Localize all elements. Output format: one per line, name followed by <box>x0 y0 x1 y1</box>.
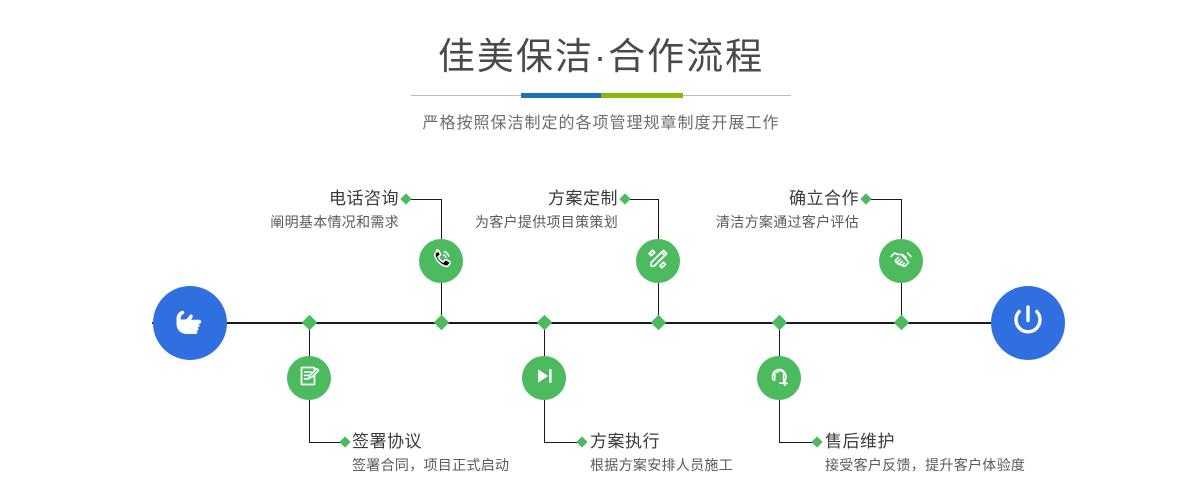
step-node-3[interactable] <box>636 239 680 283</box>
step-title-3: 方案定制 <box>370 187 618 211</box>
phone-call-icon <box>428 246 454 277</box>
step-label-6: 售后维护 接受客户反馈，提升客户体验度 <box>825 430 1025 476</box>
timeline-axis <box>152 322 1052 324</box>
handshake-icon <box>888 246 914 277</box>
step-label-4: 方案执行 根据方案安排人员施工 <box>590 430 733 476</box>
step-connector-4-stem <box>544 400 545 442</box>
axis-diamond-4 <box>537 315 553 331</box>
step-desc-2: 签署合同，项目正式启动 <box>352 454 509 476</box>
step-connector-5-stem <box>901 199 902 239</box>
axis-diamond-2 <box>302 315 318 331</box>
step-title-4: 方案执行 <box>590 430 733 454</box>
step-title-5: 确立合作 <box>610 187 859 211</box>
timeline-start-node[interactable] <box>153 286 227 360</box>
step-connector-6-stem <box>779 400 780 442</box>
step-desc-4: 根据方案安排人员施工 <box>590 454 733 476</box>
document-edit-icon <box>296 363 322 394</box>
step-marker-diamond-2 <box>339 436 350 447</box>
step-desc-5: 清洁方案通过客户评估 <box>610 211 859 233</box>
step-node-5[interactable] <box>879 239 923 283</box>
step-label-3: 方案定制 为客户提供项目策策划 <box>370 187 618 233</box>
step-title-6: 售后维护 <box>825 430 1025 454</box>
step-marker-diamond-5 <box>860 193 871 204</box>
play-next-icon <box>532 364 556 393</box>
step-desc-6: 接受客户反馈，提升客户体验度 <box>825 454 1025 476</box>
pencil-ruler-icon <box>645 246 671 277</box>
axis-diamond-1 <box>434 315 450 331</box>
process-timeline: 电话咨询 阐明基本情况和需求 签署协议 <box>0 0 1202 502</box>
customer-service-add-icon <box>766 363 792 394</box>
step-label-2: 签署协议 签署合同，项目正式启动 <box>352 430 509 476</box>
step-title-2: 签署协议 <box>352 430 509 454</box>
axis-diamond-3 <box>651 315 667 331</box>
step-label-5: 确立合作 清洁方案通过客户评估 <box>610 187 859 233</box>
pointing-hand-icon <box>170 301 210 346</box>
step-desc-1: 阐明基本情况和需求 <box>155 211 399 233</box>
step-title-1: 电话咨询 <box>155 187 399 211</box>
flow-diagram-page: 佳美保洁·合作流程 严格按照保洁制定的各项管理规章制度开展工作 <box>0 0 1202 502</box>
timeline-end-node[interactable] <box>991 286 1065 360</box>
step-node-2[interactable] <box>287 356 331 400</box>
step-label-1: 电话咨询 阐明基本情况和需求 <box>155 187 399 233</box>
step-node-6[interactable] <box>757 356 801 400</box>
step-node-4[interactable] <box>522 356 566 400</box>
step-connector-2-stem <box>309 400 310 442</box>
axis-diamond-5 <box>894 315 910 331</box>
step-desc-3: 为客户提供项目策策划 <box>370 211 618 233</box>
step-node-1[interactable] <box>419 239 463 283</box>
step-marker-diamond-6 <box>811 436 822 447</box>
power-icon <box>1007 300 1049 347</box>
step-marker-diamond-4 <box>576 436 587 447</box>
axis-diamond-6 <box>772 315 788 331</box>
